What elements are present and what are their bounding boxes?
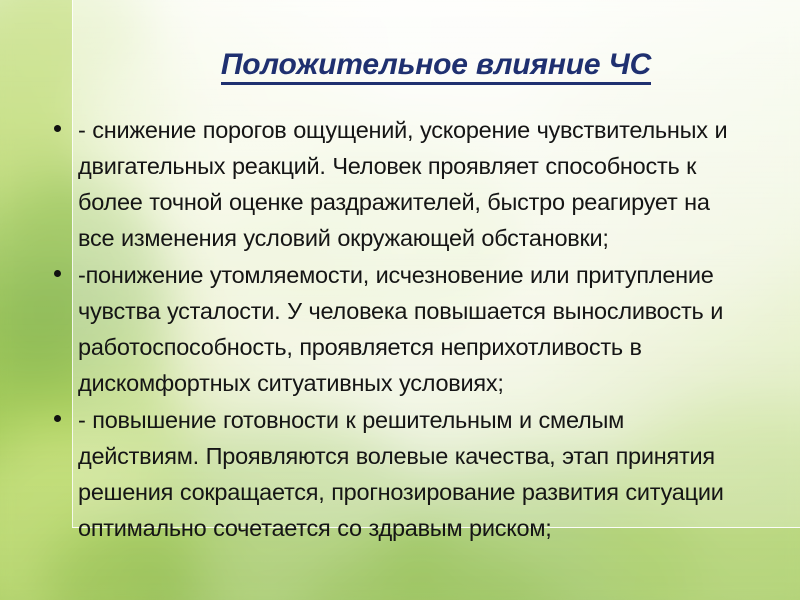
bullet-text-2: -понижение утомляемости, исчезновение ил… [78, 257, 748, 401]
slide-title-text: Положительное влияние ЧС [221, 48, 651, 85]
bullet-item-2: -понижение утомляемости, исчезновение ил… [48, 257, 748, 401]
slide-title: Положительное влияние ЧС [72, 48, 800, 82]
presentation-slide: Положительное влияние ЧС - снижение поро… [0, 0, 800, 600]
bullet-dot-icon [54, 415, 61, 422]
bullet-text-1: - снижение порогов ощущений, ускорение ч… [78, 112, 748, 256]
bullet-dot-icon [54, 125, 61, 132]
bullet-list: - снижение порогов ощущений, ускорение ч… [48, 112, 748, 547]
bullet-text-3: - повышение готовности к решительным и с… [78, 402, 748, 546]
bullet-dot-icon [54, 270, 61, 277]
bullet-item-3: - повышение готовности к решительным и с… [48, 402, 748, 546]
bullet-item-1: - снижение порогов ощущений, ускорение ч… [48, 112, 748, 256]
